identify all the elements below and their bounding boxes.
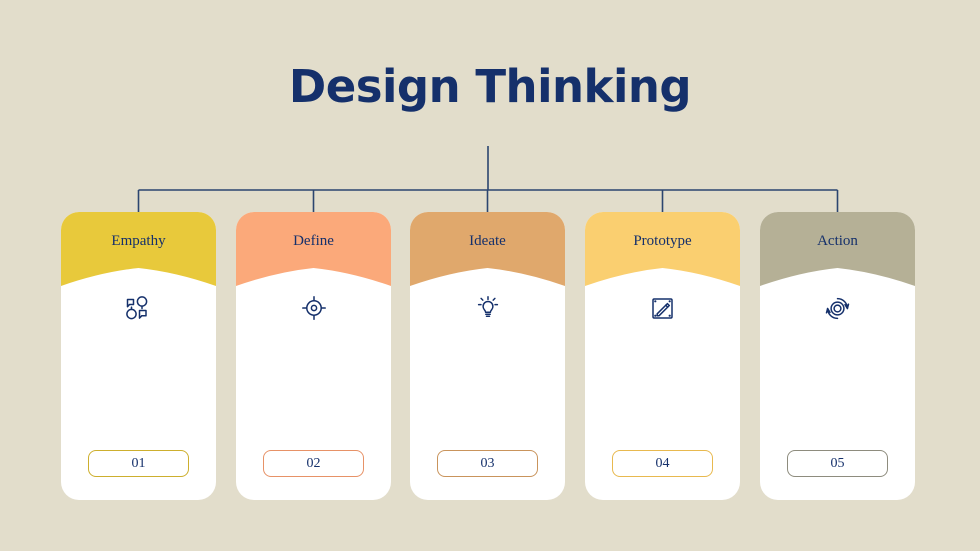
stage-card-action[interactable]: Action05 bbox=[760, 212, 915, 500]
card-label: Action bbox=[760, 233, 915, 250]
card-number-badge[interactable]: 01 bbox=[88, 450, 189, 477]
card-number-badge[interactable]: 02 bbox=[263, 450, 364, 477]
conversation-bubbles-icon bbox=[61, 291, 216, 325]
card-number-badge[interactable]: 03 bbox=[437, 450, 538, 477]
stage-card-empathy[interactable]: Empathy01 bbox=[61, 212, 216, 500]
page-title: Design Thinking bbox=[0, 60, 980, 113]
stage-card-prototype[interactable]: Prototype04 bbox=[585, 212, 740, 500]
gear-cycle-icon bbox=[760, 291, 915, 325]
slide-canvas: Design Thinking Empathy01Define02Ideate0… bbox=[0, 0, 980, 551]
stage-card-define[interactable]: Define02 bbox=[236, 212, 391, 500]
card-label: Define bbox=[236, 233, 391, 250]
card-label: Prototype bbox=[585, 233, 740, 250]
card-label: Empathy bbox=[61, 233, 216, 250]
card-number-badge[interactable]: 05 bbox=[787, 450, 888, 477]
crosshair-target-icon bbox=[236, 291, 391, 325]
card-label: Ideate bbox=[410, 233, 565, 250]
lightbulb-icon bbox=[410, 291, 565, 325]
stage-card-ideate[interactable]: Ideate03 bbox=[410, 212, 565, 500]
card-number-badge[interactable]: 04 bbox=[612, 450, 713, 477]
sketch-pencil-frame-icon bbox=[585, 291, 740, 325]
